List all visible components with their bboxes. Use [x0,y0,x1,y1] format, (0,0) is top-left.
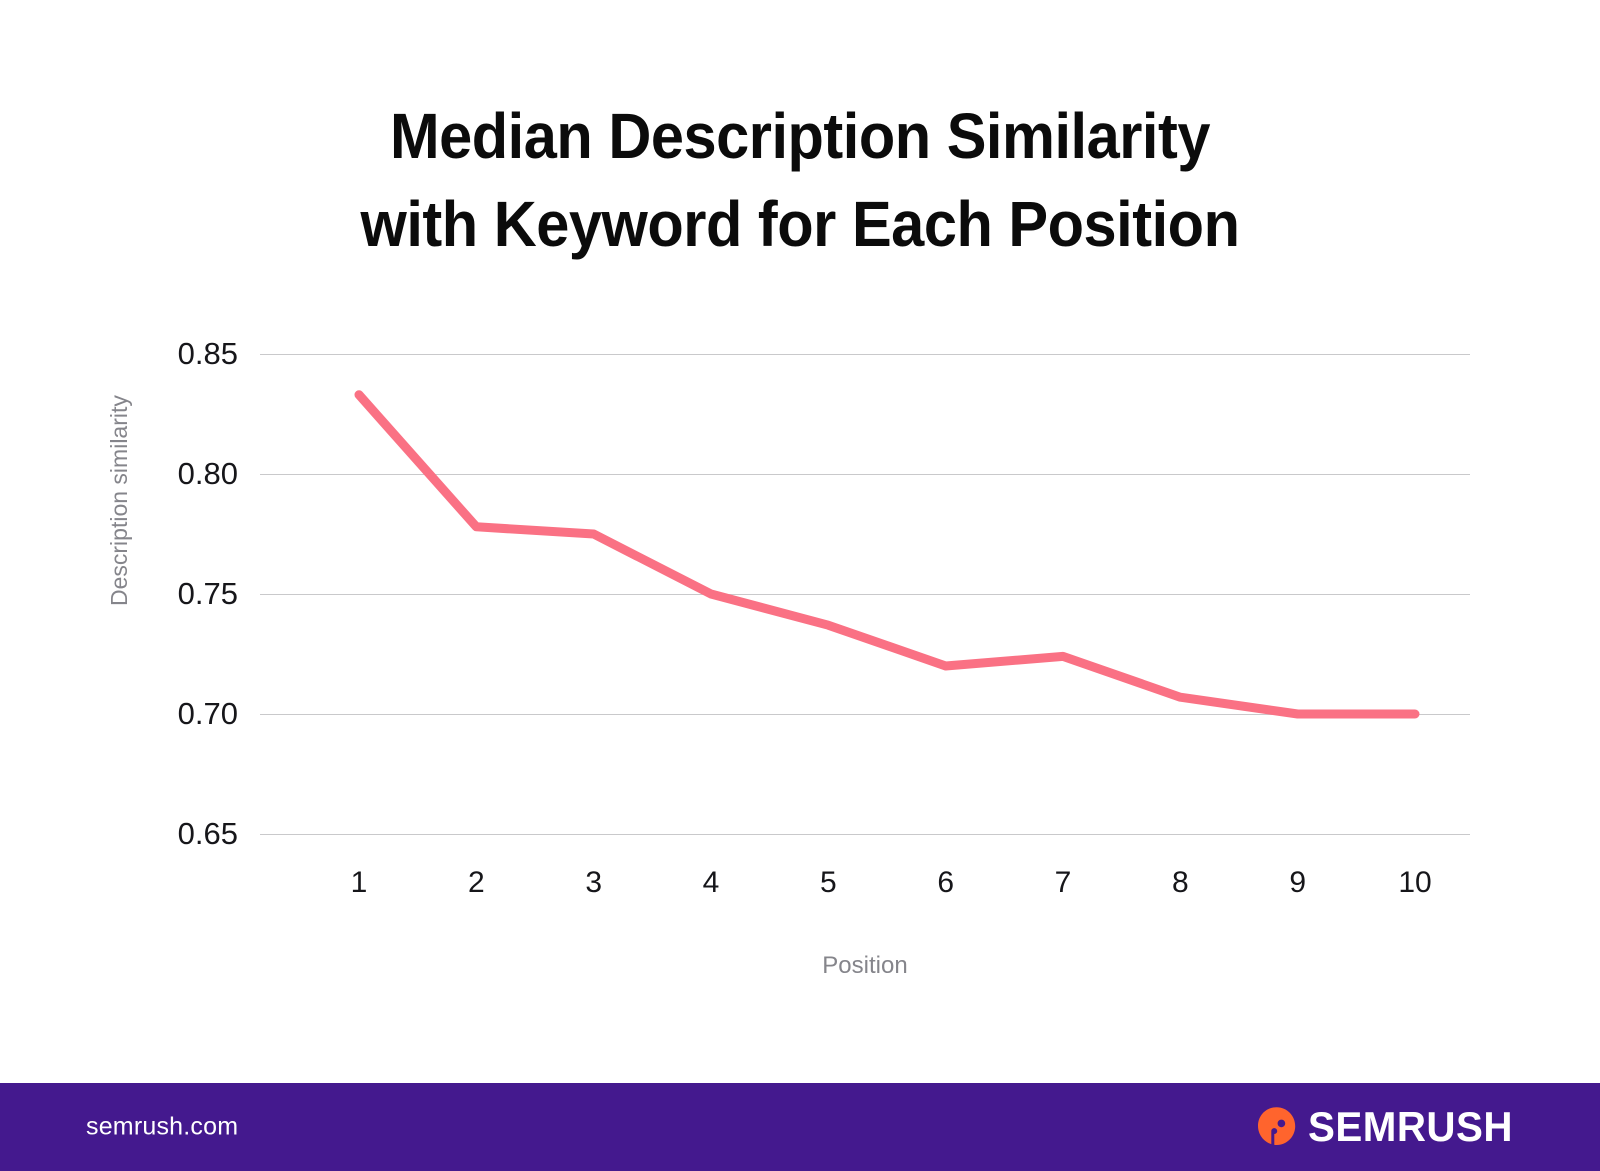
semrush-logo-icon [1255,1106,1297,1148]
chart-page: Median Description Similarity with Keywo… [0,0,1600,1171]
brand-lockup: SEMRUSH [1255,1106,1522,1148]
footer-website-url: semrush.com [86,1115,238,1140]
series-line [359,395,1415,714]
footer-bar: semrush.com SEMRUSH [0,1083,1600,1171]
brand-wordmark: SEMRUSH [1308,1106,1513,1148]
x-axis-title: Position [260,952,1470,980]
line-series-layer [0,0,1600,1040]
